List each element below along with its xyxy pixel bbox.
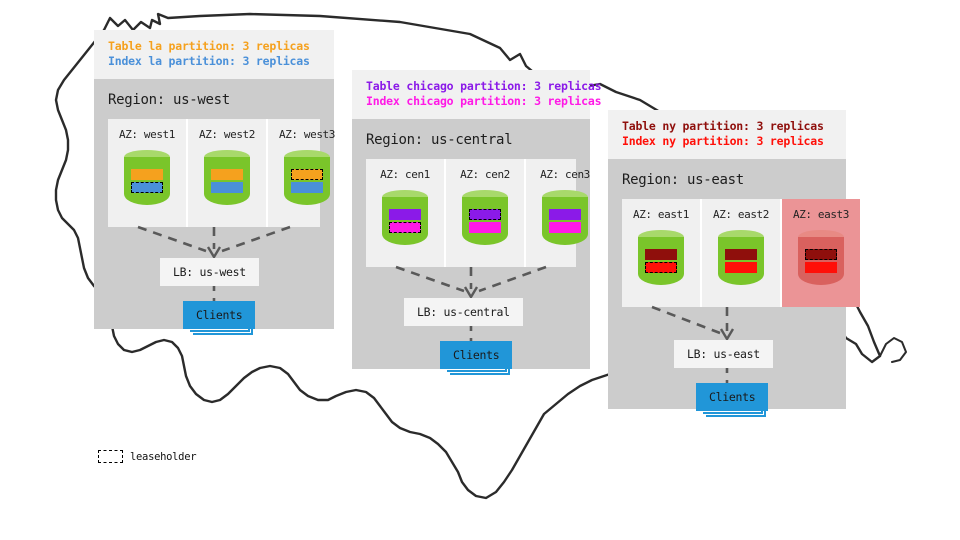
replica-bar-index-leaseholder — [645, 262, 677, 273]
region-us-central: Table chicago partition: 3 replicas Inde… — [352, 70, 590, 369]
replica-bar-index — [291, 182, 323, 193]
region-partition-legend: Table ny partition: 3 replicas Index ny … — [608, 110, 846, 159]
node-cylinder-west1[interactable] — [124, 150, 170, 207]
legend-line-index: Index la partition: 3 replicas — [108, 54, 320, 69]
az-cell-cen3[interactable]: AZ: cen3 — [526, 159, 604, 267]
region-partition-legend: Table chicago partition: 3 replicas Inde… — [352, 70, 590, 119]
replica-bar-table — [131, 169, 163, 180]
az-strip: AZ: west1 AZ: west2 AZ: west3 — [108, 119, 320, 227]
replica-bar-table-leaseholder — [805, 249, 837, 260]
legend-line-table: Table chicago partition: 3 replicas — [366, 79, 576, 94]
az-cell-west1[interactable]: AZ: west1 — [108, 119, 188, 227]
legend-line-table: Table la partition: 3 replicas — [108, 39, 320, 54]
cylinder-body — [462, 197, 508, 245]
clients-label: Clients — [696, 383, 768, 411]
legend-line-index: Index ny partition: 3 replicas — [622, 134, 832, 149]
az-label: AZ: west1 — [119, 128, 175, 141]
replica-bar-table — [211, 169, 243, 180]
replica-bar-table — [645, 249, 677, 260]
clients-label: Clients — [440, 341, 512, 369]
region-body: Region: us-west AZ: west1 AZ: west2 — [94, 79, 334, 329]
dashed-rect-icon — [98, 450, 123, 463]
node-cylinder-east2[interactable] — [718, 230, 764, 287]
cylinder-body — [542, 197, 588, 245]
replica-bar-index — [211, 182, 243, 193]
az-label: AZ: east1 — [633, 208, 689, 221]
region-title: Region: us-west — [94, 79, 334, 119]
az-cell-east3-failed[interactable]: AZ: east3 — [782, 199, 860, 307]
region-us-west: Table la partition: 3 replicas Index la … — [94, 30, 334, 329]
cylinder-body — [284, 157, 330, 205]
replica-bar-table-leaseholder — [469, 209, 501, 220]
az-cell-cen2[interactable]: AZ: cen2 — [446, 159, 526, 267]
clients-label: Clients — [183, 301, 255, 329]
az-label: AZ: cen2 — [460, 168, 510, 181]
region-body: Region: us-east AZ: east1 AZ: east2 — [608, 159, 846, 409]
replica-bar-index — [725, 262, 757, 273]
az-label: AZ: east2 — [713, 208, 769, 221]
region-us-east: Table ny partition: 3 replicas Index ny … — [608, 110, 846, 409]
replica-bar-index — [549, 222, 581, 233]
leaseholder-legend-label: leaseholder — [130, 451, 196, 463]
clients-stack-us-central[interactable]: Clients — [440, 341, 512, 369]
az-label: AZ: west2 — [199, 128, 255, 141]
az-label: AZ: west3 — [279, 128, 335, 141]
us-florida-texas-detail-path — [880, 338, 906, 362]
az-label: AZ: east3 — [793, 208, 849, 221]
node-cylinder-east1[interactable] — [638, 230, 684, 287]
load-balancer-us-east[interactable]: LB: us-east — [674, 340, 773, 368]
region-title: Region: us-east — [608, 159, 846, 199]
az-strip: AZ: cen1 AZ: cen2 AZ: cen3 — [366, 159, 576, 267]
cylinder-body — [382, 197, 428, 245]
az-label: AZ: cen3 — [540, 168, 590, 181]
node-cylinder-cen2[interactable] — [462, 190, 508, 247]
cylinder-body — [124, 157, 170, 205]
cylinder-body — [798, 237, 844, 285]
clients-stack-us-east[interactable]: Clients — [696, 383, 768, 411]
az-cell-east2[interactable]: AZ: east2 — [702, 199, 782, 307]
replica-bar-table — [549, 209, 581, 220]
replica-bar-index-leaseholder — [389, 222, 421, 233]
load-balancer-us-central[interactable]: LB: us-central — [404, 298, 523, 326]
legend-line-index: Index chicago partition: 3 replicas — [366, 94, 576, 109]
replica-bar-table — [725, 249, 757, 260]
cylinder-body — [638, 237, 684, 285]
replica-bar-index — [469, 222, 501, 233]
replica-bar-table — [389, 209, 421, 220]
region-title: Region: us-central — [352, 119, 590, 159]
az-cell-west3[interactable]: AZ: west3 — [268, 119, 346, 227]
replica-bar-table-leaseholder — [291, 169, 323, 180]
az-cell-cen1[interactable]: AZ: cen1 — [366, 159, 446, 267]
az-cell-east1[interactable]: AZ: east1 — [622, 199, 702, 307]
region-partition-legend: Table la partition: 3 replicas Index la … — [94, 30, 334, 79]
node-cylinder-cen1[interactable] — [382, 190, 428, 247]
replica-bar-index — [805, 262, 837, 273]
node-cylinder-east3-failed[interactable] — [798, 230, 844, 287]
region-body: Region: us-central AZ: cen1 AZ: cen2 — [352, 119, 590, 369]
node-cylinder-west2[interactable] — [204, 150, 250, 207]
node-cylinder-west3[interactable] — [284, 150, 330, 207]
legend-line-table: Table ny partition: 3 replicas — [622, 119, 832, 134]
cylinder-body — [718, 237, 764, 285]
replica-bar-index-leaseholder — [131, 182, 163, 193]
cylinder-body — [204, 157, 250, 205]
node-cylinder-cen3[interactable] — [542, 190, 588, 247]
clients-stack-us-west[interactable]: Clients — [183, 301, 255, 329]
az-strip: AZ: east1 AZ: east2 AZ: east3 — [622, 199, 832, 307]
az-label: AZ: cen1 — [380, 168, 430, 181]
az-cell-west2[interactable]: AZ: west2 — [188, 119, 268, 227]
leaseholder-legend: leaseholder — [98, 450, 196, 463]
load-balancer-us-west[interactable]: LB: us-west — [160, 258, 259, 286]
